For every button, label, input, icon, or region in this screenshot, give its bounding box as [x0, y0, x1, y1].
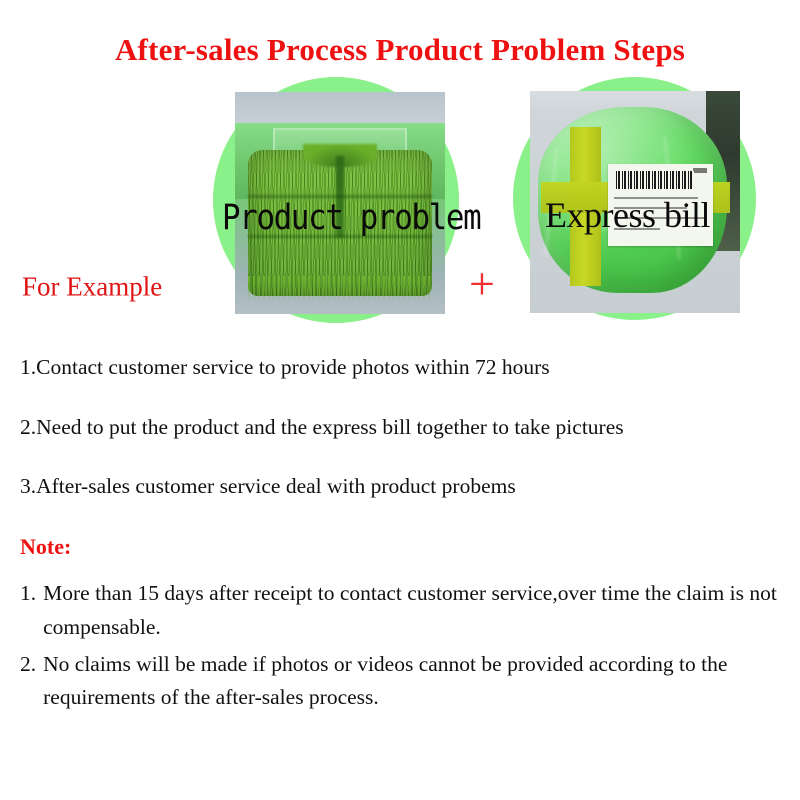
note-item-2: 2. No claims will be made if photos or v… [20, 648, 792, 715]
step-item-2: 2.Need to put the product and the expres… [20, 416, 800, 440]
steps-list: 1.Contact customer service to provide ph… [0, 356, 800, 499]
note-list: 1. More than 15 days after receipt to co… [0, 577, 800, 714]
express-bill-caption: Express bill [545, 197, 710, 233]
page-title: After-sales Process Product Problem Step… [0, 0, 800, 67]
note-text: More than 15 days after receipt to conta… [43, 577, 792, 644]
note-heading: Note: [0, 535, 800, 559]
step-item-3: 3.After-sales customer service deal with… [20, 475, 800, 499]
barcode-icon [616, 171, 694, 189]
plus-icon: + [469, 261, 495, 307]
product-problem-caption: Product problem [222, 201, 480, 236]
note-marker: 1. [20, 577, 43, 610]
step-item-1: 1.Contact customer service to provide ph… [20, 356, 800, 380]
note-text: No claims will be made if photos or vide… [43, 648, 792, 715]
label-corner-code [693, 168, 708, 174]
for-example-label: For Example [22, 272, 162, 303]
example-illustration-row: For Example Product problem + [0, 77, 800, 342]
fur-fringe [248, 276, 433, 302]
product-problem-photo-block: Product problem [213, 77, 461, 335]
express-bill-photo-block: Express bill [513, 77, 756, 335]
note-item-1: 1. More than 15 days after receipt to co… [20, 577, 792, 644]
note-marker: 2. [20, 648, 43, 681]
after-sales-process-infographic: { "title": "After-sales Process Product … [0, 0, 800, 800]
